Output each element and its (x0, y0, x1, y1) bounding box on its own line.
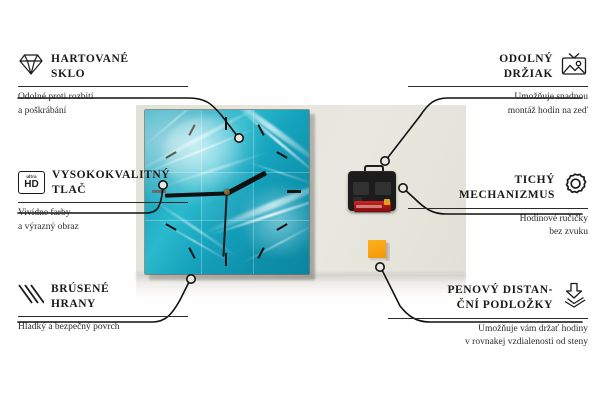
feature-desc-line2: bez zvuku (408, 226, 588, 239)
clock-tick-6 (225, 253, 227, 266)
feature-title-line1: PENOVÝ DISTAN- (447, 283, 553, 298)
feature-rule (408, 208, 588, 209)
clock-movement (348, 165, 396, 211)
feature-desc-line2: montáž hodin na zeď (408, 105, 588, 118)
feature-rule (18, 202, 188, 203)
feature-title-line2: HRANY (51, 297, 109, 312)
feature-titles: BRÚSENÉ HRANY (51, 282, 109, 311)
feature-title-line2: MECHANIZMUS (459, 188, 555, 203)
feature-silent-mechanism: TICHÝ MECHANIZMUS Hodinové ručičky bez z… (408, 172, 588, 240)
pane-line (253, 110, 254, 274)
feature-rule (388, 318, 588, 319)
foam-pad-shadow (386, 243, 390, 261)
feature-desc-line1: Vivídne farby (18, 207, 188, 220)
feature-desc-line1: Hodinové ručičky (408, 213, 588, 226)
clock-tick-3 (287, 190, 301, 193)
gear-icon (562, 172, 588, 203)
feature-titles: TICHÝ MECHANIZMUS (459, 173, 555, 202)
battery-label (356, 205, 382, 208)
feature-title-line2: ČNÍ PODLOŽKY (447, 298, 553, 313)
battery-plus-terminal (384, 199, 390, 205)
feature-header: TICHÝ MECHANIZMUS (408, 172, 588, 203)
movement-body (348, 171, 396, 211)
diamond-icon (18, 53, 44, 80)
feature-ground-edges: BRÚSENÉ HRANY Hladký a bezpečný povrch (18, 282, 188, 335)
feature-title-line1: ODOLNÝ (499, 52, 553, 67)
feature-rule (18, 316, 188, 317)
feature-titles: HARTOVANÉ SKLO (51, 52, 129, 81)
feature-title-line2: TLAČ (52, 183, 170, 198)
feature-title-line1: TICHÝ (459, 173, 555, 188)
feature-title-line1: HARTOVANÉ (51, 52, 129, 67)
feature-desc-line1: Umožňuje snadnou (408, 91, 588, 104)
feature-title-line1: VYSOKOKVALITNÝ (52, 168, 170, 183)
feature-hardened-glass: HARTOVANÉ SKLO Odolné proti rozbití a po… (18, 52, 188, 118)
feature-desc-line1: Hladký a bezpečný povrch (18, 321, 188, 334)
feature-desc-line1: Umožňuje vám držať hodiny (388, 323, 588, 336)
feature-title-line2: SKLO (51, 67, 129, 82)
diagonal-lines-icon (18, 283, 44, 310)
feature-title-line2: DRŽIAK (499, 67, 553, 82)
pane-reflection (145, 110, 201, 172)
feature-titles: VYSOKOKVALITNÝ TLAČ (52, 168, 170, 197)
feature-header: PENOVÝ DISTAN- ČNÍ PODLOŽKY (388, 282, 588, 313)
feature-header: ODOLNÝ DRŽIAK (408, 52, 588, 81)
feature-rule (18, 86, 188, 87)
ultra-hd-icon: ultra HD (18, 171, 45, 194)
stack-down-arrow-icon (560, 282, 588, 313)
feature-desc-line1: Odolné proti rozbití (18, 91, 188, 104)
feature-header: ultra HD VYSOKOKVALITNÝ TLAČ (18, 168, 188, 197)
ultra-hd-icon-large-text: HD (24, 180, 38, 190)
feature-high-quality-print: ultra HD VYSOKOKVALITNÝ TLAČ Vivídne far… (18, 168, 188, 234)
feature-header: HARTOVANÉ SKLO (18, 52, 188, 81)
feature-title-line1: BRÚSENÉ (51, 282, 109, 297)
feature-durable-holder: ODOLNÝ DRŽIAK Umožňuje snadnou montáž ho… (408, 52, 588, 118)
infographic-canvas: HARTOVANÉ SKLO Odolné proti rozbití a po… (0, 0, 600, 400)
movement-slot (353, 182, 369, 195)
picture-frame-icon (560, 52, 588, 81)
clock-tick-2 (276, 151, 287, 159)
feature-desc-line2: v rovnakej vzdialenosti od steny (388, 336, 588, 349)
feature-rule (408, 86, 588, 87)
clock-tick-12 (225, 117, 227, 130)
feature-desc-line2: a výrazný obraz (18, 221, 188, 234)
feature-foam-spacers: PENOVÝ DISTAN- ČNÍ PODLOŽKY Umožňuje vám… (388, 282, 588, 350)
feature-desc-line2: a poškrábání (18, 105, 188, 118)
clock-center-pin (224, 189, 230, 195)
feature-header: BRÚSENÉ HRANY (18, 282, 188, 311)
movement-slot (375, 182, 391, 195)
foam-spacer-pad (368, 240, 386, 258)
feature-titles: PENOVÝ DISTAN- ČNÍ PODLOŽKY (447, 283, 553, 312)
clock-tick-7 (188, 247, 195, 259)
feature-titles: ODOLNÝ DRŽIAK (499, 52, 553, 81)
